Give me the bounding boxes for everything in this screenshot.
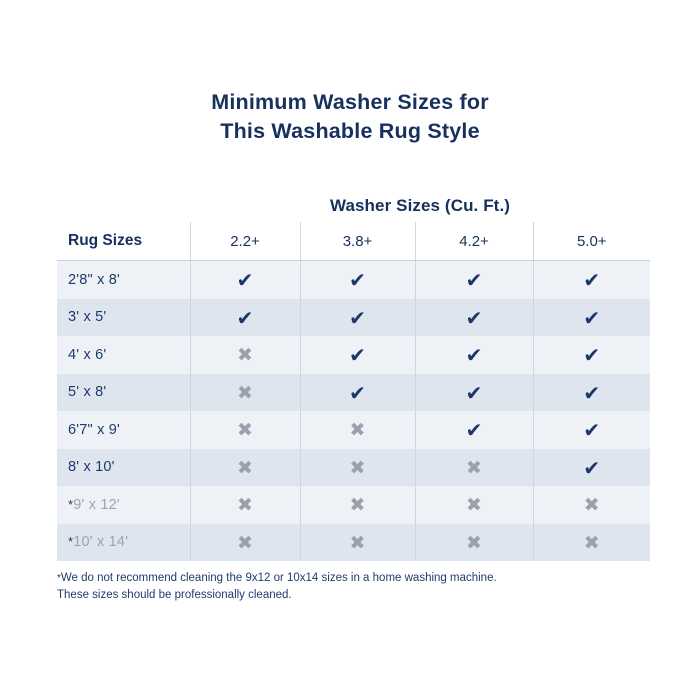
rug-size-text: 9' x 12' bbox=[73, 497, 120, 513]
rug-size-text: 3' x 5' bbox=[68, 309, 106, 325]
check-icon: ✔ bbox=[466, 383, 483, 403]
cross-icon: ✖ bbox=[350, 496, 366, 515]
table-row: *10' x 14'✖✖✖✖ bbox=[57, 524, 650, 562]
check-icon: ✔ bbox=[583, 458, 600, 478]
cross-icon: ✖ bbox=[237, 346, 253, 365]
cross-icon: ✖ bbox=[237, 496, 253, 515]
table-row: 2'8" x 8'✔✔✔✔ bbox=[57, 261, 650, 299]
check-icon: ✔ bbox=[466, 270, 483, 290]
compatibility-cell: ✖ bbox=[190, 449, 300, 487]
table-body: 2'8" x 8'✔✔✔✔3' x 5'✔✔✔✔4' x 6'✖✔✔✔5' x … bbox=[57, 261, 650, 562]
compatibility-cell: ✖ bbox=[190, 486, 300, 524]
cross-icon: ✖ bbox=[237, 421, 253, 440]
compatibility-cell: ✔ bbox=[190, 299, 300, 337]
rug-size-text: 5' x 8' bbox=[68, 384, 106, 400]
compatibility-cell: ✖ bbox=[300, 524, 415, 562]
rug-size-label: 5' x 8' bbox=[57, 374, 190, 412]
rug-size-text: 6'7" x 9' bbox=[68, 422, 120, 438]
check-icon: ✔ bbox=[349, 383, 366, 403]
compatibility-cell: ✔ bbox=[415, 411, 533, 449]
compatibility-cell: ✔ bbox=[533, 374, 650, 412]
column-header-rug-sizes: Rug Sizes bbox=[57, 222, 190, 261]
size-compatibility-table: Rug Sizes 2.2+ 3.8+ 4.2+ 5.0+ 2'8" x 8'✔… bbox=[57, 222, 650, 561]
cross-icon: ✖ bbox=[237, 459, 253, 478]
compatibility-cell: ✔ bbox=[533, 261, 650, 299]
table-row: 4' x 6'✖✔✔✔ bbox=[57, 336, 650, 374]
table-header: Rug Sizes 2.2+ 3.8+ 4.2+ 5.0+ bbox=[57, 222, 650, 261]
rug-size-text: 10' x 14' bbox=[73, 534, 128, 550]
check-icon: ✔ bbox=[466, 420, 483, 440]
check-icon: ✔ bbox=[349, 270, 366, 290]
check-icon: ✔ bbox=[237, 270, 254, 290]
column-header-washer-4: 5.0+ bbox=[533, 222, 650, 261]
compatibility-cell: ✖ bbox=[190, 411, 300, 449]
cross-icon: ✖ bbox=[466, 496, 482, 515]
compatibility-cell: ✔ bbox=[415, 299, 533, 337]
cross-icon: ✖ bbox=[237, 534, 253, 553]
rug-size-label: *9' x 12' bbox=[57, 486, 190, 524]
compatibility-cell: ✖ bbox=[300, 411, 415, 449]
cross-icon: ✖ bbox=[350, 534, 366, 553]
rug-size-label: 8' x 10' bbox=[57, 449, 190, 487]
check-icon: ✔ bbox=[349, 308, 366, 328]
column-header-washer-3: 4.2+ bbox=[415, 222, 533, 261]
page-title: Minimum Washer Sizes for This Washable R… bbox=[0, 88, 700, 146]
compatibility-cell: ✖ bbox=[415, 449, 533, 487]
rug-size-text: 2'8" x 8' bbox=[68, 272, 120, 288]
washer-sizes-group-header: Washer Sizes (Cu. Ft.) bbox=[190, 196, 650, 216]
page-title-line-1: Minimum Washer Sizes for bbox=[0, 88, 700, 117]
cross-icon: ✖ bbox=[584, 496, 600, 515]
compatibility-cell: ✔ bbox=[533, 449, 650, 487]
washer-size-chart: Minimum Washer Sizes for This Washable R… bbox=[0, 0, 700, 700]
rug-size-label: 4' x 6' bbox=[57, 336, 190, 374]
footnote-line-2: These sizes should be professionally cle… bbox=[57, 587, 647, 603]
compatibility-cell: ✔ bbox=[415, 374, 533, 412]
check-icon: ✔ bbox=[583, 345, 600, 365]
footnote-line-1: *We do not recommend cleaning the 9x12 o… bbox=[57, 570, 647, 587]
compatibility-cell: ✖ bbox=[415, 524, 533, 562]
check-icon: ✔ bbox=[583, 308, 600, 328]
compatibility-cell: ✔ bbox=[300, 299, 415, 337]
cross-icon: ✖ bbox=[350, 421, 366, 440]
rug-size-text: 4' x 6' bbox=[68, 347, 106, 363]
compatibility-cell: ✖ bbox=[190, 336, 300, 374]
rug-size-label: 2'8" x 8' bbox=[57, 261, 190, 299]
compatibility-cell: ✔ bbox=[300, 374, 415, 412]
check-icon: ✔ bbox=[237, 308, 254, 328]
check-icon: ✔ bbox=[349, 345, 366, 365]
cross-icon: ✖ bbox=[584, 534, 600, 553]
check-icon: ✔ bbox=[583, 270, 600, 290]
rug-size-label: 3' x 5' bbox=[57, 299, 190, 337]
cross-icon: ✖ bbox=[237, 384, 253, 403]
compatibility-cell: ✖ bbox=[300, 449, 415, 487]
check-icon: ✔ bbox=[583, 383, 600, 403]
table-row: 3' x 5'✔✔✔✔ bbox=[57, 299, 650, 337]
compatibility-cell: ✖ bbox=[190, 374, 300, 412]
compatibility-cell: ✔ bbox=[300, 336, 415, 374]
table-row: 6'7" x 9'✖✖✔✔ bbox=[57, 411, 650, 449]
table-row: 8' x 10'✖✖✖✔ bbox=[57, 449, 650, 487]
column-header-washer-2: 3.8+ bbox=[300, 222, 415, 261]
rug-size-text: 8' x 10' bbox=[68, 459, 115, 475]
column-header-washer-1: 2.2+ bbox=[190, 222, 300, 261]
footnote: *We do not recommend cleaning the 9x12 o… bbox=[57, 570, 647, 603]
compatibility-cell: ✔ bbox=[533, 299, 650, 337]
cross-icon: ✖ bbox=[466, 534, 482, 553]
compatibility-cell: ✖ bbox=[533, 486, 650, 524]
page-title-line-2: This Washable Rug Style bbox=[0, 117, 700, 146]
compatibility-cell: ✔ bbox=[533, 336, 650, 374]
table-row: 5' x 8'✖✔✔✔ bbox=[57, 374, 650, 412]
check-icon: ✔ bbox=[583, 420, 600, 440]
compatibility-cell: ✔ bbox=[415, 261, 533, 299]
rug-size-label: *10' x 14' bbox=[57, 524, 190, 562]
compatibility-cell: ✖ bbox=[415, 486, 533, 524]
check-icon: ✔ bbox=[466, 308, 483, 328]
compatibility-cell: ✖ bbox=[300, 486, 415, 524]
rug-size-label: 6'7" x 9' bbox=[57, 411, 190, 449]
table-header-row: Rug Sizes 2.2+ 3.8+ 4.2+ 5.0+ bbox=[57, 222, 650, 261]
compatibility-cell: ✔ bbox=[415, 336, 533, 374]
table-row: *9' x 12'✖✖✖✖ bbox=[57, 486, 650, 524]
check-icon: ✔ bbox=[466, 345, 483, 365]
cross-icon: ✖ bbox=[466, 459, 482, 478]
footnote-text-1: We do not recommend cleaning the 9x12 or… bbox=[61, 572, 497, 584]
compatibility-cell: ✔ bbox=[533, 411, 650, 449]
compatibility-cell: ✔ bbox=[300, 261, 415, 299]
compatibility-cell: ✖ bbox=[190, 524, 300, 562]
compatibility-cell: ✖ bbox=[533, 524, 650, 562]
cross-icon: ✖ bbox=[350, 459, 366, 478]
compatibility-cell: ✔ bbox=[190, 261, 300, 299]
